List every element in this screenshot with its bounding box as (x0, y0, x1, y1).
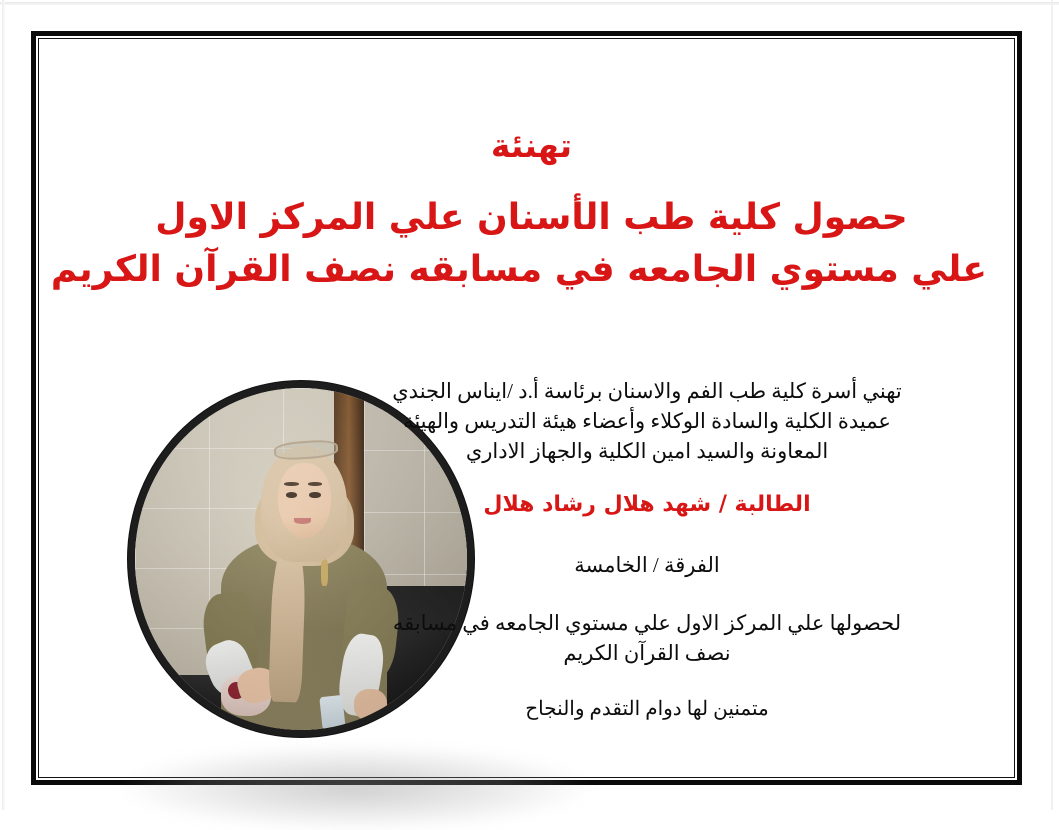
page-left-edge (2, 0, 5, 810)
page-top-edge (0, 2, 1059, 5)
photo-phone (319, 695, 346, 730)
photo-hand-right (354, 689, 387, 720)
award-reason-line-2: نصف القرآن الكريم (387, 638, 907, 668)
award-reason-line-1: لحصولها علي المركز الاول علي مستوي الجام… (387, 608, 907, 638)
heading-line-1: حصول كلية طب الأسنان علي المركز الاول (76, 192, 987, 244)
photo-eye-left (286, 492, 297, 497)
heading-block: تهنئة حصول كلية طب الأسنان علي المركز ال… (76, 126, 987, 296)
body-text-column: تهني أسرة كلية طب الفم والاسنان برئاسة أ… (387, 376, 907, 724)
photo-eye-right (309, 492, 320, 497)
student-grade: الفرقة / الخامسة (387, 550, 907, 580)
intro-line-3: المعاونة والسيد امين الكلية والجهاز الاد… (387, 436, 907, 466)
photo-badge (321, 559, 328, 586)
document-frame: تهنئة حصول كلية طب الأسنان علي المركز ال… (31, 31, 1022, 785)
photo-face (278, 463, 331, 538)
student-name: الطالبة / شهد هلال رشاد هلال (387, 490, 907, 520)
closing-wish: متمنين لها دوام التقدم والنجاح (387, 694, 907, 724)
page-title: تهنئة (76, 126, 987, 166)
page-right-edge (1051, 0, 1053, 810)
heading-line-2: علي مستوي الجامعه في مسابقه نصف القرآن ا… (76, 244, 987, 296)
intro-line-1: تهني أسرة كلية طب الفم والاسنان برئاسة أ… (387, 376, 907, 406)
intro-line-2: عميدة الكلية والسادة الوكلاء وأعضاء هيئة… (387, 406, 907, 436)
